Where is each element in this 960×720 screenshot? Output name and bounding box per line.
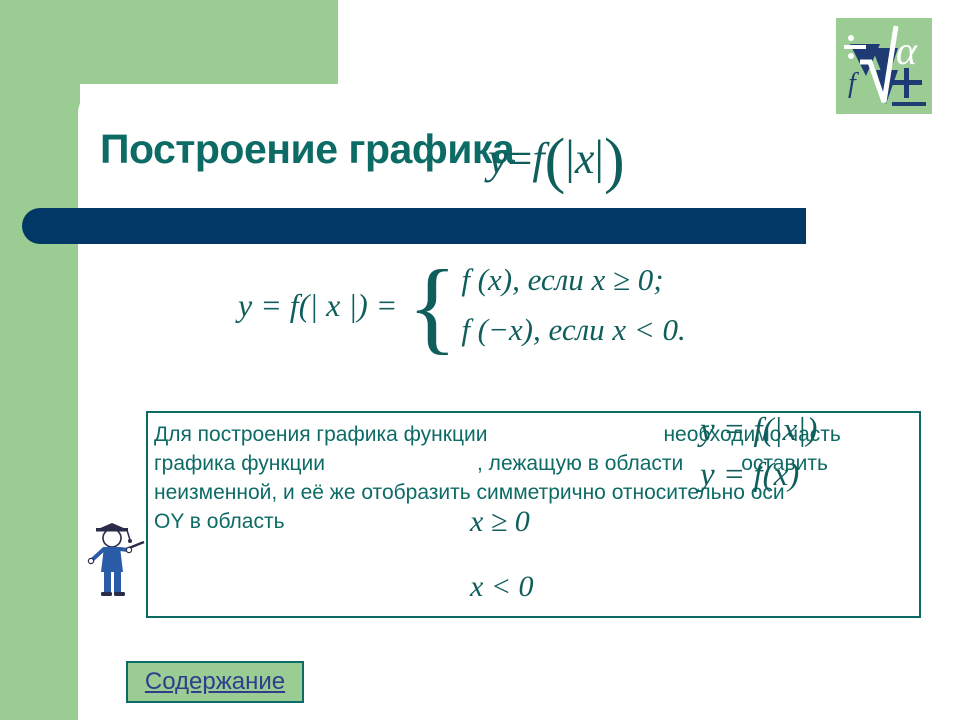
overlay-formula-x-ge-0: x ≥ 0 xyxy=(470,505,530,539)
green-left-strip xyxy=(0,0,80,720)
title-formula-bar-right: | xyxy=(594,131,604,184)
overlay-formula-x-lt-0: x < 0 xyxy=(470,570,534,604)
title-formula-equals: = xyxy=(508,134,533,183)
navy-divider-bar xyxy=(22,208,806,244)
title-formula-f: f xyxy=(532,134,544,183)
piecewise-formula-lhs: y = f(| x |) = xyxy=(238,287,397,324)
description-line-4: OY в область xyxy=(154,510,285,533)
piecewise-case-1: f (x), если x ≥ 0; xyxy=(461,262,686,298)
title-formula-x: x xyxy=(575,134,595,183)
page-title: Построение графика xyxy=(100,126,514,173)
description-line-2a: графика функции xyxy=(154,452,325,475)
overlay-1-text: y = f(|x|) xyxy=(700,412,817,448)
title-formula-open-paren: ( xyxy=(545,127,566,195)
overlay-3-text: x ≥ 0 xyxy=(470,505,530,538)
svg-text:α: α xyxy=(896,28,918,73)
title-formula-bar-left: | xyxy=(565,131,575,184)
graduate-teacher-icon xyxy=(78,516,150,600)
piecewise-formula-cases: f (x), если x ≥ 0; f (−x), если x < 0. xyxy=(461,262,686,348)
overlay-formula-y-f-x: y = f(x) xyxy=(700,457,799,494)
content-button-label: Содержание xyxy=(145,668,285,696)
slide-canvas: α f Построение графика y=f(|x|) y = f(| … xyxy=(0,0,960,720)
overlay-4-text: x < 0 xyxy=(470,570,534,603)
math-logo-icon: α f xyxy=(836,18,932,114)
title-formula-y: y xyxy=(488,134,508,183)
overlay-2-text: y = f(x) xyxy=(700,457,799,493)
overlay-formula-y-f-abs-x: y = f(|x|) xyxy=(700,412,817,449)
content-button[interactable]: Содержание xyxy=(126,661,304,703)
title-formula-close-paren: ) xyxy=(604,127,625,195)
piecewise-formula: y = f(| x |) = { f (x), если x ≥ 0; f (−… xyxy=(238,262,686,348)
description-line-1a: Для построения графика функции xyxy=(154,423,487,446)
green-top-band xyxy=(0,0,338,84)
title-formula: y=f(|x|) xyxy=(488,118,625,189)
math-logo: α f xyxy=(836,18,932,114)
piecewise-case-2: f (−x), если x < 0. xyxy=(461,312,686,348)
description-line-2b: , лежащую в области xyxy=(477,452,683,475)
teacher-figure xyxy=(78,516,150,600)
piecewise-formula-brace: { xyxy=(407,266,457,347)
description-line-3: неизменной, и её же отобразить симметрич… xyxy=(154,481,785,504)
